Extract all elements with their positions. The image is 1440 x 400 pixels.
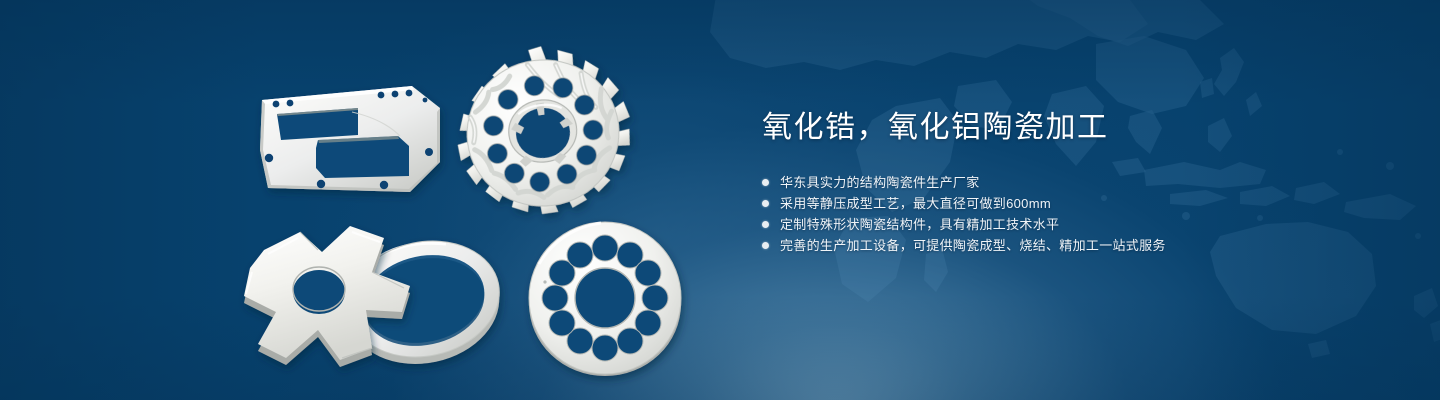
product-ceramic-impeller (446, 36, 641, 225)
product-perforated-ceramic-disc (529, 222, 681, 376)
feature-text: 定制特殊形状陶瓷结构件，具有精加工技术水平 (780, 214, 1059, 235)
product-collage (0, 0, 740, 400)
bullet-dot-icon (762, 200, 769, 207)
feature-text: 采用等静压成型工艺，最大直径可做到600mm (780, 193, 1051, 214)
banner-copy: 氧化锆，氧化铝陶瓷加工 华东具实力的结构陶瓷件生产厂家 采用等静压成型工艺，最大… (762, 108, 1382, 256)
feature-item: 定制特殊形状陶瓷结构件，具有精加工技术水平 (762, 214, 1382, 235)
feature-item: 采用等静压成型工艺，最大直径可做到600mm (762, 193, 1382, 214)
feature-list: 华东具实力的结构陶瓷件生产厂家 采用等静压成型工艺，最大直径可做到600mm 定… (762, 172, 1382, 256)
bullet-dot-icon (762, 242, 769, 249)
feature-text: 完善的生产加工设备，可提供陶瓷成型、烧结、精加工一站式服务 (780, 235, 1166, 256)
feature-item: 完善的生产加工设备，可提供陶瓷成型、烧结、精加工一站式服务 (762, 235, 1382, 256)
hero-banner: 氧化锆，氧化铝陶瓷加工 华东具实力的结构陶瓷件生产厂家 采用等静压成型工艺，最大… (0, 0, 1440, 400)
bullet-dot-icon (762, 221, 769, 228)
product-machined-ceramic-plate (260, 86, 440, 192)
feature-item: 华东具实力的结构陶瓷件生产厂家 (762, 172, 1382, 193)
feature-text: 华东具实力的结构陶瓷件生产厂家 (780, 172, 980, 193)
bullet-dot-icon (762, 179, 769, 186)
banner-headline: 氧化锆，氧化铝陶瓷加工 (762, 108, 1382, 148)
